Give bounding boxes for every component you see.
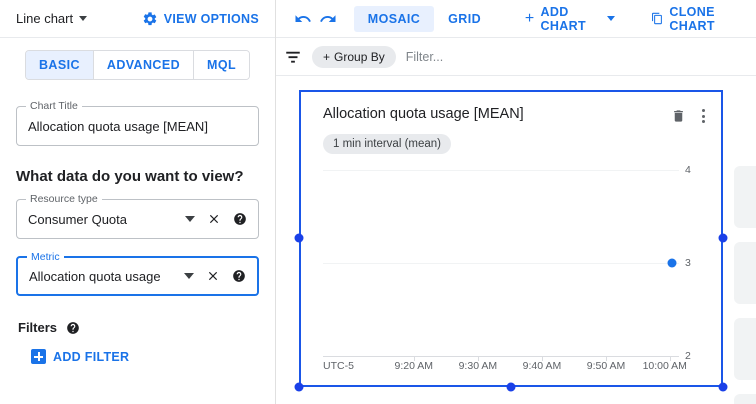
resource-type-field[interactable]: Resource type Consumer Quota	[16, 199, 259, 239]
tab-advanced-label: ADVANCED	[107, 58, 180, 72]
tab-basic-label: BASIC	[39, 58, 80, 72]
resize-handle-left[interactable]	[295, 234, 304, 243]
card-stub	[734, 166, 756, 228]
add-filter-label: ADD FILTER	[53, 350, 129, 364]
chart-card-actions	[671, 106, 707, 125]
tab-advanced[interactable]: ADVANCED	[94, 51, 194, 79]
dashboard-canvas-panel: MOSAIC GRID + ADD CHART CLONE CHART	[276, 0, 756, 404]
chevron-down-icon[interactable]	[184, 273, 194, 279]
chart-card-header: Allocation quota usage [MEAN]	[301, 92, 721, 125]
help-icon[interactable]	[233, 212, 247, 226]
xtick-label-3: 9:50 AM	[587, 360, 626, 372]
view-mode-mosaic-label: MOSAIC	[368, 12, 420, 26]
offscreen-card-stubs	[734, 166, 756, 404]
chart-card-title: Allocation quota usage [MEAN]	[323, 106, 671, 122]
config-tabs-row: BASIC ADVANCED MQL	[0, 38, 275, 80]
chart-config-panel: Line chart VIEW OPTIONS BASIC ADVANCED M	[0, 0, 276, 404]
clone-chart-label: CLONE CHART	[669, 5, 748, 33]
card-stub	[734, 318, 756, 380]
undo-button[interactable]	[290, 4, 315, 34]
metric-icons	[184, 269, 257, 283]
chart-type-dropdown[interactable]: Line chart	[10, 8, 93, 29]
close-icon[interactable]	[206, 269, 220, 283]
tab-basic[interactable]: BASIC	[26, 51, 94, 79]
group-by-chip[interactable]: + Group By	[312, 46, 396, 68]
card-stub	[734, 394, 756, 404]
view-options-label: VIEW OPTIONS	[164, 12, 259, 26]
resize-handle-bottom[interactable]	[507, 383, 516, 392]
trash-icon[interactable]	[671, 108, 686, 124]
resize-handle-bottom-right[interactable]	[719, 383, 728, 392]
copy-icon	[651, 11, 663, 26]
metric-label: Metric	[27, 251, 64, 263]
chart-type-label: Line chart	[16, 11, 73, 26]
view-mode-grid-label: GRID	[448, 12, 481, 26]
config-tabs: BASIC ADVANCED MQL	[25, 50, 250, 80]
chart-title-field[interactable]: Chart Title Allocation quota usage [MEAN…	[16, 106, 259, 146]
help-icon[interactable]	[232, 269, 246, 283]
more-options-icon[interactable]	[700, 107, 707, 125]
gridline-y3	[323, 263, 679, 264]
filter-icon[interactable]	[284, 48, 302, 66]
dashboard-toolbar: MOSAIC GRID + ADD CHART CLONE CHART	[276, 0, 756, 38]
dashboard-canvas: Allocation quota usage [MEAN] 1 min inte…	[276, 76, 756, 404]
plus-icon: +	[323, 50, 330, 64]
plus-icon	[31, 349, 46, 364]
filters-label: Filters	[18, 320, 57, 335]
xtick-label-1: 9:30 AM	[459, 360, 498, 372]
filter-input[interactable]: Filter...	[406, 50, 444, 64]
tab-mql[interactable]: MQL	[194, 51, 249, 79]
resize-handle-right[interactable]	[719, 234, 728, 243]
chart-card[interactable]: Allocation quota usage [MEAN] 1 min inte…	[299, 90, 723, 387]
close-icon[interactable]	[207, 212, 221, 226]
x-axis-line	[323, 356, 679, 357]
chevron-down-icon	[79, 16, 87, 21]
resource-type-icons	[185, 212, 258, 226]
undo-icon	[294, 10, 312, 28]
redo-icon	[319, 10, 337, 28]
chart-title-label: Chart Title	[26, 100, 82, 112]
chart-plot-area: 4 3 2 UTC-5 9:20 AM 9:30	[323, 170, 679, 356]
gear-icon	[142, 11, 158, 27]
clone-chart-button[interactable]: CLONE CHART	[643, 6, 756, 32]
chevron-down-icon[interactable]	[185, 216, 195, 222]
resize-handle-bottom-left[interactable]	[295, 383, 304, 392]
chart-title-input[interactable]: Allocation quota usage [MEAN]	[17, 119, 258, 134]
ytick-label-4: 4	[685, 164, 691, 176]
data-section-heading: What data do you want to view?	[16, 168, 259, 185]
xtick-label-0: 9:20 AM	[395, 360, 434, 372]
xtick-label-4: 10:00 AM	[643, 360, 687, 372]
dashboard-editor: Line chart VIEW OPTIONS BASIC ADVANCED M	[0, 0, 756, 404]
filters-section: Filters	[18, 320, 259, 335]
card-stub	[734, 242, 756, 304]
tab-mql-label: MQL	[207, 58, 236, 72]
data-point[interactable]	[667, 259, 676, 268]
add-chart-label: ADD CHART	[541, 5, 601, 33]
ytick-label-3: 3	[685, 257, 691, 269]
resource-type-label: Resource type	[26, 193, 102, 205]
chart-config-header: Line chart VIEW OPTIONS	[0, 0, 275, 38]
timezone-label: UTC-5	[323, 360, 354, 372]
redo-button[interactable]	[315, 4, 340, 34]
metric-value[interactable]: Allocation quota usage	[18, 269, 184, 284]
add-filter-button[interactable]: ADD FILTER	[31, 349, 259, 364]
resource-type-value[interactable]: Consumer Quota	[17, 212, 185, 227]
view-mode-grid[interactable]: GRID	[434, 6, 495, 32]
metric-field[interactable]: Metric Allocation quota usage	[16, 256, 259, 296]
view-mode-mosaic[interactable]: MOSAIC	[354, 6, 434, 32]
dashboard-filter-bar: + Group By Filter...	[276, 38, 756, 76]
view-options-button[interactable]: VIEW OPTIONS	[136, 7, 265, 31]
gridline-y4	[323, 170, 679, 171]
chevron-down-icon	[607, 16, 615, 21]
group-by-label: Group By	[334, 50, 385, 64]
plus-icon: +	[525, 11, 535, 27]
chart-interval-chip: 1 min interval (mean)	[323, 134, 451, 154]
add-chart-button[interactable]: + ADD CHART	[517, 6, 623, 32]
help-icon[interactable]	[66, 321, 80, 335]
xtick-label-2: 9:40 AM	[523, 360, 562, 372]
